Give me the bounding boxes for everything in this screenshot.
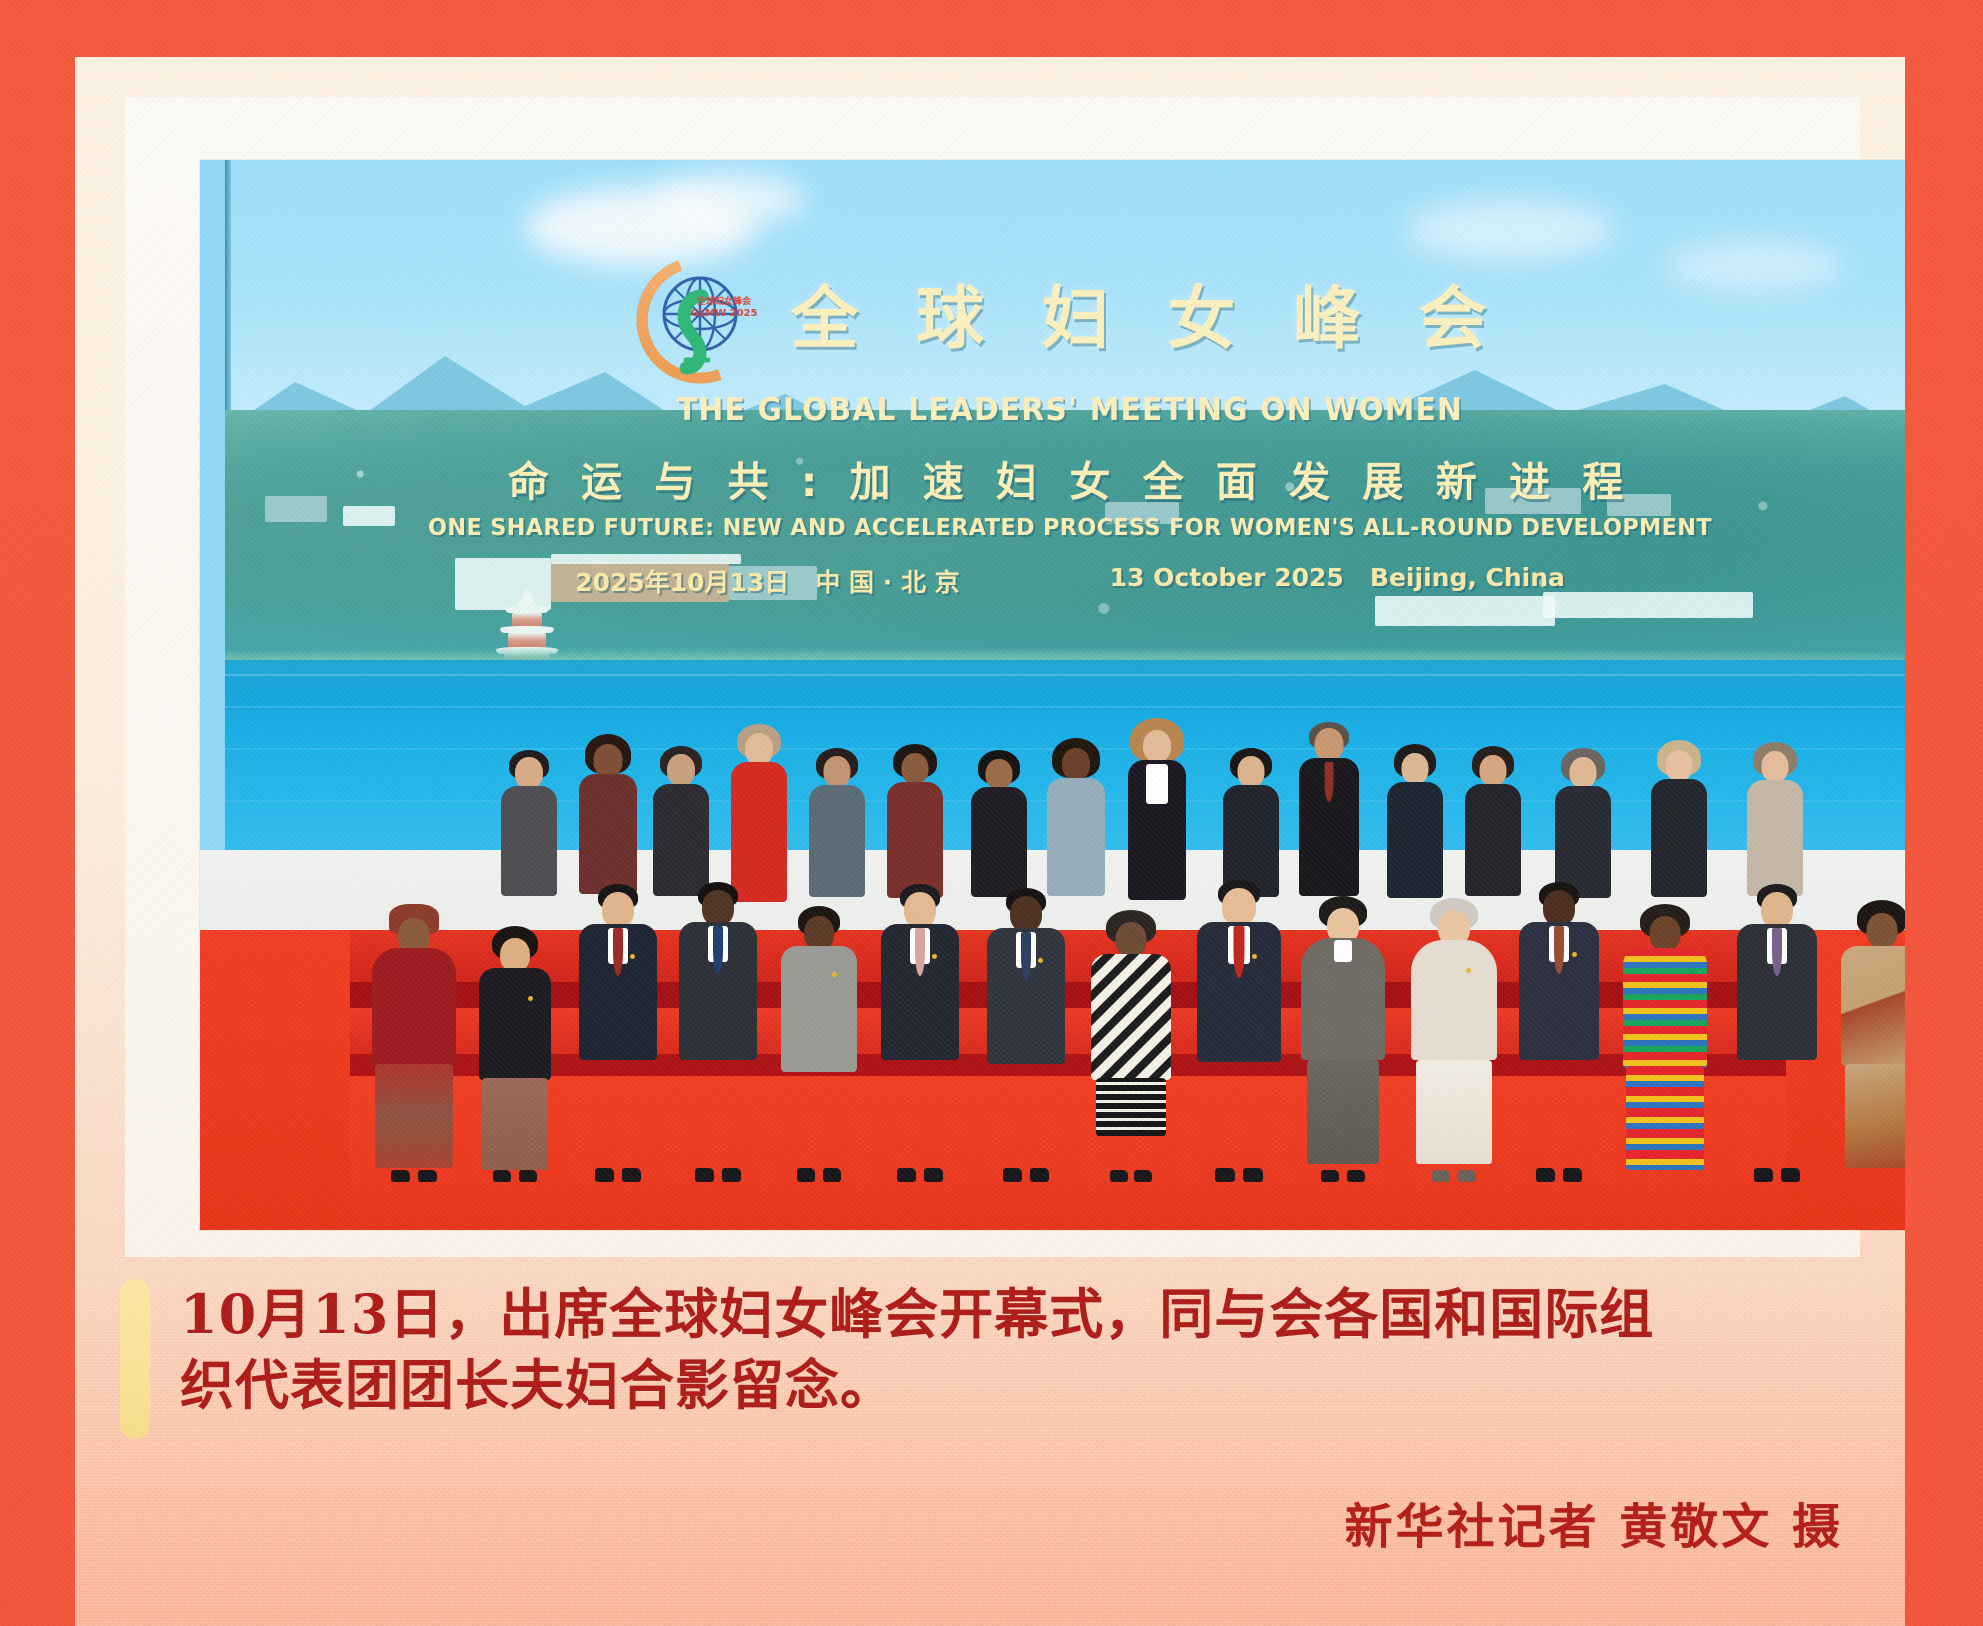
cloud <box>655 172 805 226</box>
delegate-front <box>1736 884 1818 1182</box>
delegate-back <box>808 748 866 930</box>
svg-text:全球妇女峰会: 全球妇女峰会 <box>696 295 752 307</box>
caption-text: 10月13日，出席全球妇女峰会开幕式，同与会各国和国际组 织代表团团长夫妇合影留… <box>180 1279 1654 1439</box>
delegate-front-spouse <box>1300 896 1386 1182</box>
backdrop-date-en: 13 October 2025 Beijing, China <box>1110 563 1565 599</box>
inner-panel: 全球妇女峰会 GLMW 2025 全 球 妇 女 峰 会 THE GLOBAL … <box>75 57 1905 1626</box>
backdrop-subtitle-cn: 命 运 与 共 : 加 速 妇 女 全 面 发 展 新 进 程 <box>225 448 1905 508</box>
backdrop-subtitle-en: ONE SHARED FUTURE: NEW AND ACCELERATED P… <box>250 515 1889 541</box>
group-photograph: 全球妇女峰会 GLMW 2025 全 球 妇 女 峰 会 THE GLOBAL … <box>200 160 1905 1230</box>
delegate-front <box>1840 900 1905 1182</box>
hill-building <box>1375 596 1555 626</box>
photo-card: 全球妇女峰会 GLMW 2025 全 球 妇 女 峰 会 THE GLOBAL … <box>0 0 1983 1626</box>
caption-accent-bar <box>120 1279 150 1439</box>
delegate-back <box>1126 718 1188 930</box>
caption-block: 10月13日，出席全球妇女峰会开幕式，同与会各国和国际组 织代表团团长夫妇合影留… <box>120 1279 1820 1439</box>
cloud <box>1405 200 1615 260</box>
delegate-front <box>780 906 858 1182</box>
delegate-back <box>1650 740 1708 930</box>
delegate-front <box>1090 910 1172 1182</box>
caption-line-1: 10月13日，出席全球妇女峰会开幕式，同与会各国和国际组 <box>180 1279 1654 1350</box>
caption-line-2: 织代表团团长夫妇合影留念。 <box>180 1350 1654 1421</box>
delegate-front <box>578 884 658 1182</box>
delegate-front <box>478 926 552 1182</box>
backdrop-title-cn: 全 球 妇 女 峰 会 <box>790 286 1503 354</box>
carpet-left <box>200 930 350 1230</box>
delegate-front <box>1518 882 1600 1182</box>
delegate-front <box>880 884 960 1182</box>
delegate-front <box>986 888 1066 1182</box>
glmw-emblem-icon: 全球妇女峰会 GLMW 2025 <box>636 256 764 384</box>
delegate-front <box>372 904 456 1182</box>
delegate-front <box>1410 898 1498 1182</box>
delegate-front-leader <box>1196 880 1282 1182</box>
backdrop-date-cn: 2025年10月13日 中 国 · 北 京 <box>575 563 960 599</box>
photo-credit: 新华社记者 黄敬文 摄 <box>1345 1487 1843 1557</box>
delegate-back <box>500 750 558 930</box>
backdrop-headline: 全球妇女峰会 GLMW 2025 全 球 妇 女 峰 会 THE GLOBAL … <box>225 256 1905 599</box>
svg-text:GLMW 2025: GLMW 2025 <box>691 308 758 319</box>
delegate-front <box>678 882 758 1182</box>
backdrop-title-en: THE GLOBAL LEADERS' MEETING ON WOMEN <box>259 392 1881 428</box>
delegate-front <box>1622 904 1708 1182</box>
